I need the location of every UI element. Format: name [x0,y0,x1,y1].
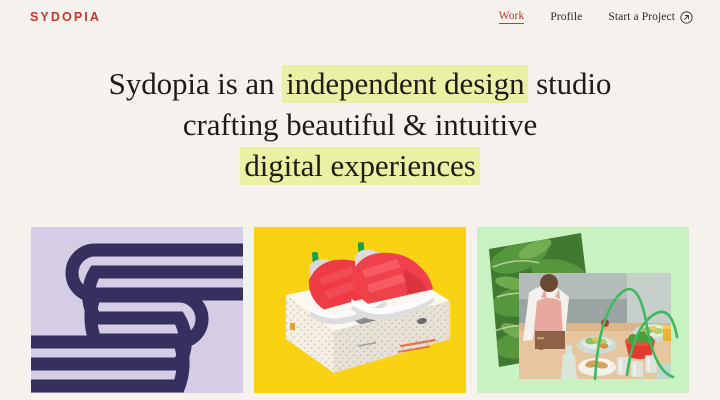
hero-line-3: digital experiences [40,145,680,186]
hero-headline: Sydopia is an independent design studio … [0,63,720,186]
work-card-mint-food-collage[interactable] [477,227,689,393]
hero-line-1-highlight: independent design [282,65,528,103]
nav-item-profile[interactable]: Profile [550,11,582,23]
logo[interactable]: SYDOPIA [30,10,101,24]
hero-line-1: Sydopia is an independent design studio [40,63,680,104]
s-monogram-graphic [31,227,243,393]
hero-line-1-post: studio [528,66,611,101]
nav-item-start-a-project-label: Start a Project [608,11,675,23]
main-nav: Work Profile Start a Project [499,10,693,24]
sneakers-product-photo [254,227,466,393]
hero-line-2: crafting beautiful & intuitive [40,104,680,145]
work-card-lavender-s-monogram[interactable] [31,227,243,393]
site-header: SYDOPIA Work Profile Start a Project [0,0,720,34]
hero-line-1-pre: Sydopia is an [109,66,282,101]
food-collage-graphic [477,227,689,393]
work-card-yellow-sneakers[interactable] [254,227,466,393]
nav-item-start-a-project[interactable]: Start a Project [608,11,693,24]
hero-line-3-highlight: digital experiences [240,147,479,185]
nav-item-work[interactable]: Work [499,10,525,24]
arrow-up-right-circle-icon [680,11,693,24]
work-grid [31,227,689,393]
